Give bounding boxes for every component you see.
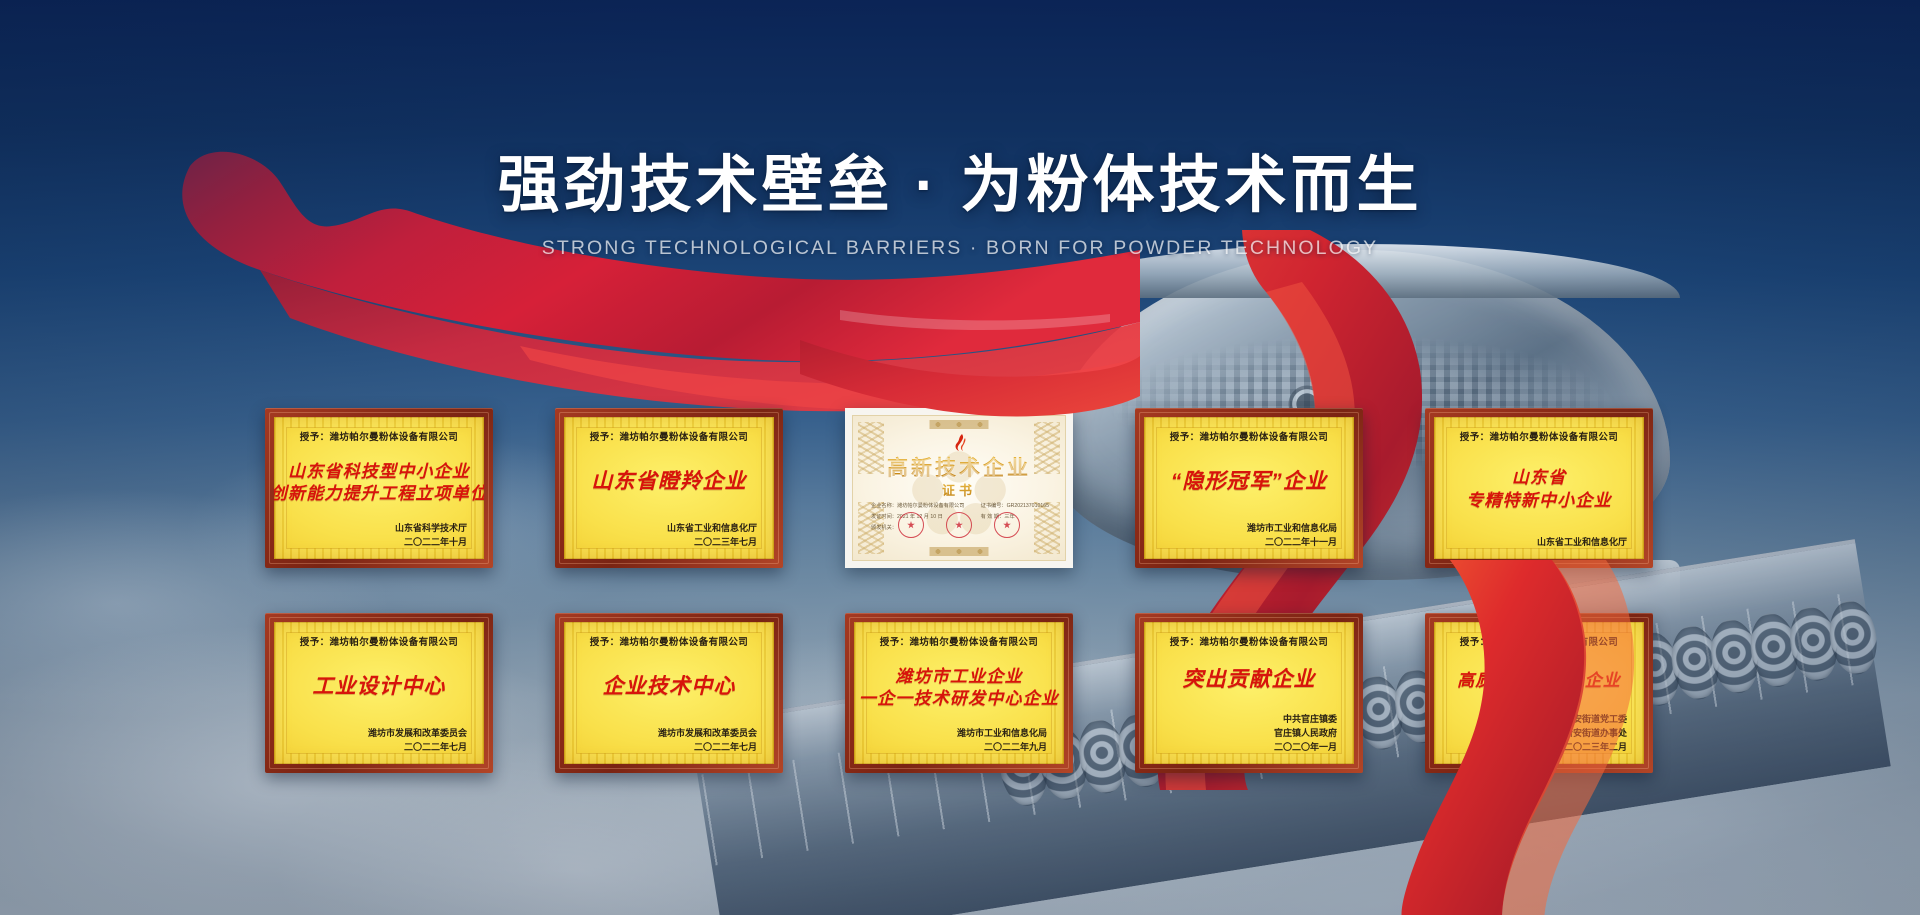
plaque-award-to: 授予：潍坊帕尔曼粉体设备有限公司 [1445,429,1633,443]
award-plaque[interactable]: 授予：潍坊帕尔曼粉体设备有限公司山东省瞪羚企业山东省工业和信息化厅二〇二三年七月 [555,408,783,568]
plaque-issuer: 潍坊市发展和改革委员会 [285,727,467,741]
award-plaque[interactable]: 授予：潍坊帕尔曼粉体设备有限公司潍坊市工业企业一企一技术研发中心企业潍坊市工业和… [845,613,1073,773]
plaque-face: 授予：潍坊帕尔曼粉体设备有限公司企业技术中心潍坊市发展和改革委员会二〇二二年七月 [564,622,774,764]
plaque-date: 二〇二二年七月 [285,741,467,755]
plaque-title: 工业设计中心 [285,648,473,727]
plaque-face: 授予：潍坊帕尔曼粉体设备有限公司突出贡献企业中共官庄镇委官庄镇人民政府二〇二〇年… [1144,622,1354,764]
official-seal-icon [946,512,972,538]
plaque-face: 授予：潍坊帕尔曼粉体设备有限公司山东省专精特新中小企业山东省工业和信息化厅 [1434,417,1644,559]
plaque-issuer: 潍坊市发展和改革委员会 [575,727,757,741]
plaque-award-to: 授予：潍坊帕尔曼粉体设备有限公司 [1155,634,1343,648]
plaque-footer: 山东省工业和信息化厅二〇二三年七月 [575,522,763,552]
certificate-inner: 高新技术企业证书企业名称：潍坊帕尔曼粉体设备有限公司发证时间：2021 年 12… [852,415,1066,561]
plaque-title-line: 潍坊市工业企业 [895,667,1022,687]
page-title: 强劲技术壁垒 · 为粉体技术而生 [0,150,1920,221]
plaque-award-to: 授予：潍坊帕尔曼粉体设备有限公司 [865,634,1053,648]
award-plaque[interactable]: 授予：潍坊帕尔曼粉体设备有限公司工业设计中心潍坊市发展和改革委员会二〇二二年七月 [265,613,493,773]
plaque-date: 二〇二二年七月 [575,741,757,755]
plaque-footer: 新安街道党工委新安街道办事处二〇二三年二月 [1445,713,1633,757]
plaque-title-line: 专精特新中小企业 [1466,491,1612,511]
award-plaque[interactable]: 授予：潍坊帕尔曼粉体设备有限公司高质量发展优秀企业新安街道党工委新安街道办事处二… [1425,613,1653,773]
awards-grid: 授予：潍坊帕尔曼粉体设备有限公司山东省科技型中小企业创新能力提升工程立项单位山东… [265,408,1655,773]
plaque-issuer: 官庄镇人民政府 [1155,727,1337,741]
award-plaque[interactable]: 授予：潍坊帕尔曼粉体设备有限公司山东省科技型中小企业创新能力提升工程立项单位山东… [265,408,493,568]
plaque-title: 高质量发展优秀企业 [1445,648,1633,713]
plaque-issuer: 山东省工业和信息化厅 [1445,536,1627,550]
certificate-title: 高新技术企业 [853,452,1065,482]
plaque-footer: 潍坊市发展和改革委员会二〇二二年七月 [285,727,473,757]
plaque-date: 二〇二三年七月 [575,536,757,550]
plaque-issuer: 山东省工业和信息化厅 [575,522,757,536]
certificate-top-deco-icon [924,420,994,429]
plaque-award-to: 授予：潍坊帕尔曼粉体设备有限公司 [285,429,473,443]
plaque-title: 突出贡献企业 [1155,648,1343,713]
plaque-date: 二〇二二年九月 [865,741,1047,755]
plaque-title-line: 一企一技术研发中心企业 [859,689,1059,709]
plaque-title-line: 创新能力提升工程立项单位 [274,484,484,504]
official-seal-icon [898,512,924,538]
plaque-title-line: 企业技术中心 [602,675,735,700]
plaque-footer: 潍坊市工业和信息化局二〇二二年九月 [865,727,1053,757]
plaque-title: 企业技术中心 [575,648,763,727]
certificate-subtitle: 证书 [853,480,1065,499]
plaque-date: 二〇二〇年一月 [1155,741,1337,755]
award-plaque[interactable]: 授予：潍坊帕尔曼粉体设备有限公司企业技术中心潍坊市发展和改革委员会二〇二二年七月 [555,613,783,773]
plaque-footer: 中共官庄镇委官庄镇人民政府二〇二〇年一月 [1155,713,1343,757]
award-plaque[interactable]: 授予：潍坊帕尔曼粉体设备有限公司山东省专精特新中小企业山东省工业和信息化厅 [1425,408,1653,568]
plaque-face: 授予：潍坊帕尔曼粉体设备有限公司工业设计中心潍坊市发展和改革委员会二〇二二年七月 [274,622,484,764]
plaque-issuer: 新安街道党工委 [1445,713,1627,727]
plaque-date: 二〇二三年二月 [1445,741,1627,755]
plaque-face: 授予：潍坊帕尔曼粉体设备有限公司高质量发展优秀企业新安街道党工委新安街道办事处二… [1434,622,1644,764]
plaque-date: 二〇二二年十一月 [1155,536,1337,550]
plaque-title: 山东省专精特新中小企业 [1445,443,1633,536]
plaque-issuer: 新安街道办事处 [1445,727,1627,741]
plaque-footer: 潍坊市工业和信息化局二〇二二年十一月 [1155,522,1343,552]
plaque-issuer: 中共官庄镇委 [1155,713,1337,727]
plaque-issuer: 潍坊市工业和信息化局 [865,727,1047,741]
award-plaque[interactable]: 授予：潍坊帕尔曼粉体设备有限公司“隐形冠军”企业潍坊市工业和信息化局二〇二二年十… [1135,408,1363,568]
award-certificate[interactable]: 高新技术企业证书企业名称：潍坊帕尔曼粉体设备有限公司发证时间：2021 年 12… [845,408,1073,568]
plaque-award-to: 授予：潍坊帕尔曼粉体设备有限公司 [575,634,763,648]
banner-stage: 强劲技术壁垒 · 为粉体技术而生 STRONG TECHNOLOGICAL BA… [0,0,1920,915]
plaque-title-line: 工业设计中心 [312,675,445,700]
plaque-title-line: “隐形冠军”企业 [1171,470,1328,495]
plaque-title-line: 突出贡献企业 [1182,668,1315,693]
plaque-title-line: 山东省科技型中小企业 [288,462,470,482]
plaque-face: 授予：潍坊帕尔曼粉体设备有限公司潍坊市工业企业一企一技术研发中心企业潍坊市工业和… [854,622,1064,764]
certificate-seals [853,512,1065,538]
plaque-award-to: 授予：潍坊帕尔曼粉体设备有限公司 [575,429,763,443]
plaque-title-line: 山东省瞪羚企业 [591,470,746,495]
plaque-title: 山东省科技型中小企业创新能力提升工程立项单位 [285,443,473,522]
plaque-title-line: 高质量发展优秀企业 [1457,671,1621,691]
plaque-award-to: 授予：潍坊帕尔曼粉体设备有限公司 [1445,634,1633,648]
plaque-issuer: 山东省科学技术厅 [285,522,467,536]
plaque-footer: 潍坊市发展和改革委员会二〇二二年七月 [575,727,763,757]
plaque-title-line: 山东省 [1512,468,1567,488]
plaque-footer: 山东省工业和信息化厅 [1445,536,1633,552]
page-subtitle: STRONG TECHNOLOGICAL BARRIERS · BORN FOR… [0,237,1920,260]
plaque-award-to: 授予：潍坊帕尔曼粉体设备有限公司 [285,634,473,648]
official-seal-icon [994,512,1020,538]
plaque-footer: 山东省科学技术厅二〇二二年十月 [285,522,473,552]
plaque-face: 授予：潍坊帕尔曼粉体设备有限公司山东省瞪羚企业山东省工业和信息化厅二〇二三年七月 [564,417,774,559]
award-plaque[interactable]: 授予：潍坊帕尔曼粉体设备有限公司突出贡献企业中共官庄镇委官庄镇人民政府二〇二〇年… [1135,613,1363,773]
hero-title-block: 强劲技术壁垒 · 为粉体技术而生 STRONG TECHNOLOGICAL BA… [0,150,1920,260]
plaque-face: 授予：潍坊帕尔曼粉体设备有限公司山东省科技型中小企业创新能力提升工程立项单位山东… [274,417,484,559]
plaque-date: 二〇二二年十月 [285,536,467,550]
plaque-face: 授予：潍坊帕尔曼粉体设备有限公司“隐形冠军”企业潍坊市工业和信息化局二〇二二年十… [1144,417,1354,559]
plaque-title: 潍坊市工业企业一企一技术研发中心企业 [865,648,1053,727]
certificate-field: 企业名称：潍坊帕尔曼粉体设备有限公司 [871,502,964,512]
plaque-issuer: 潍坊市工业和信息化局 [1155,522,1337,536]
plaque-award-to: 授予：潍坊帕尔曼粉体设备有限公司 [1155,429,1343,443]
plaque-title: 山东省瞪羚企业 [575,443,763,522]
certificate-field: 证书编号：GR202137010165 [981,502,1049,512]
plaque-title: “隐形冠军”企业 [1155,443,1343,522]
certificate-bottom-deco-icon [924,547,994,556]
